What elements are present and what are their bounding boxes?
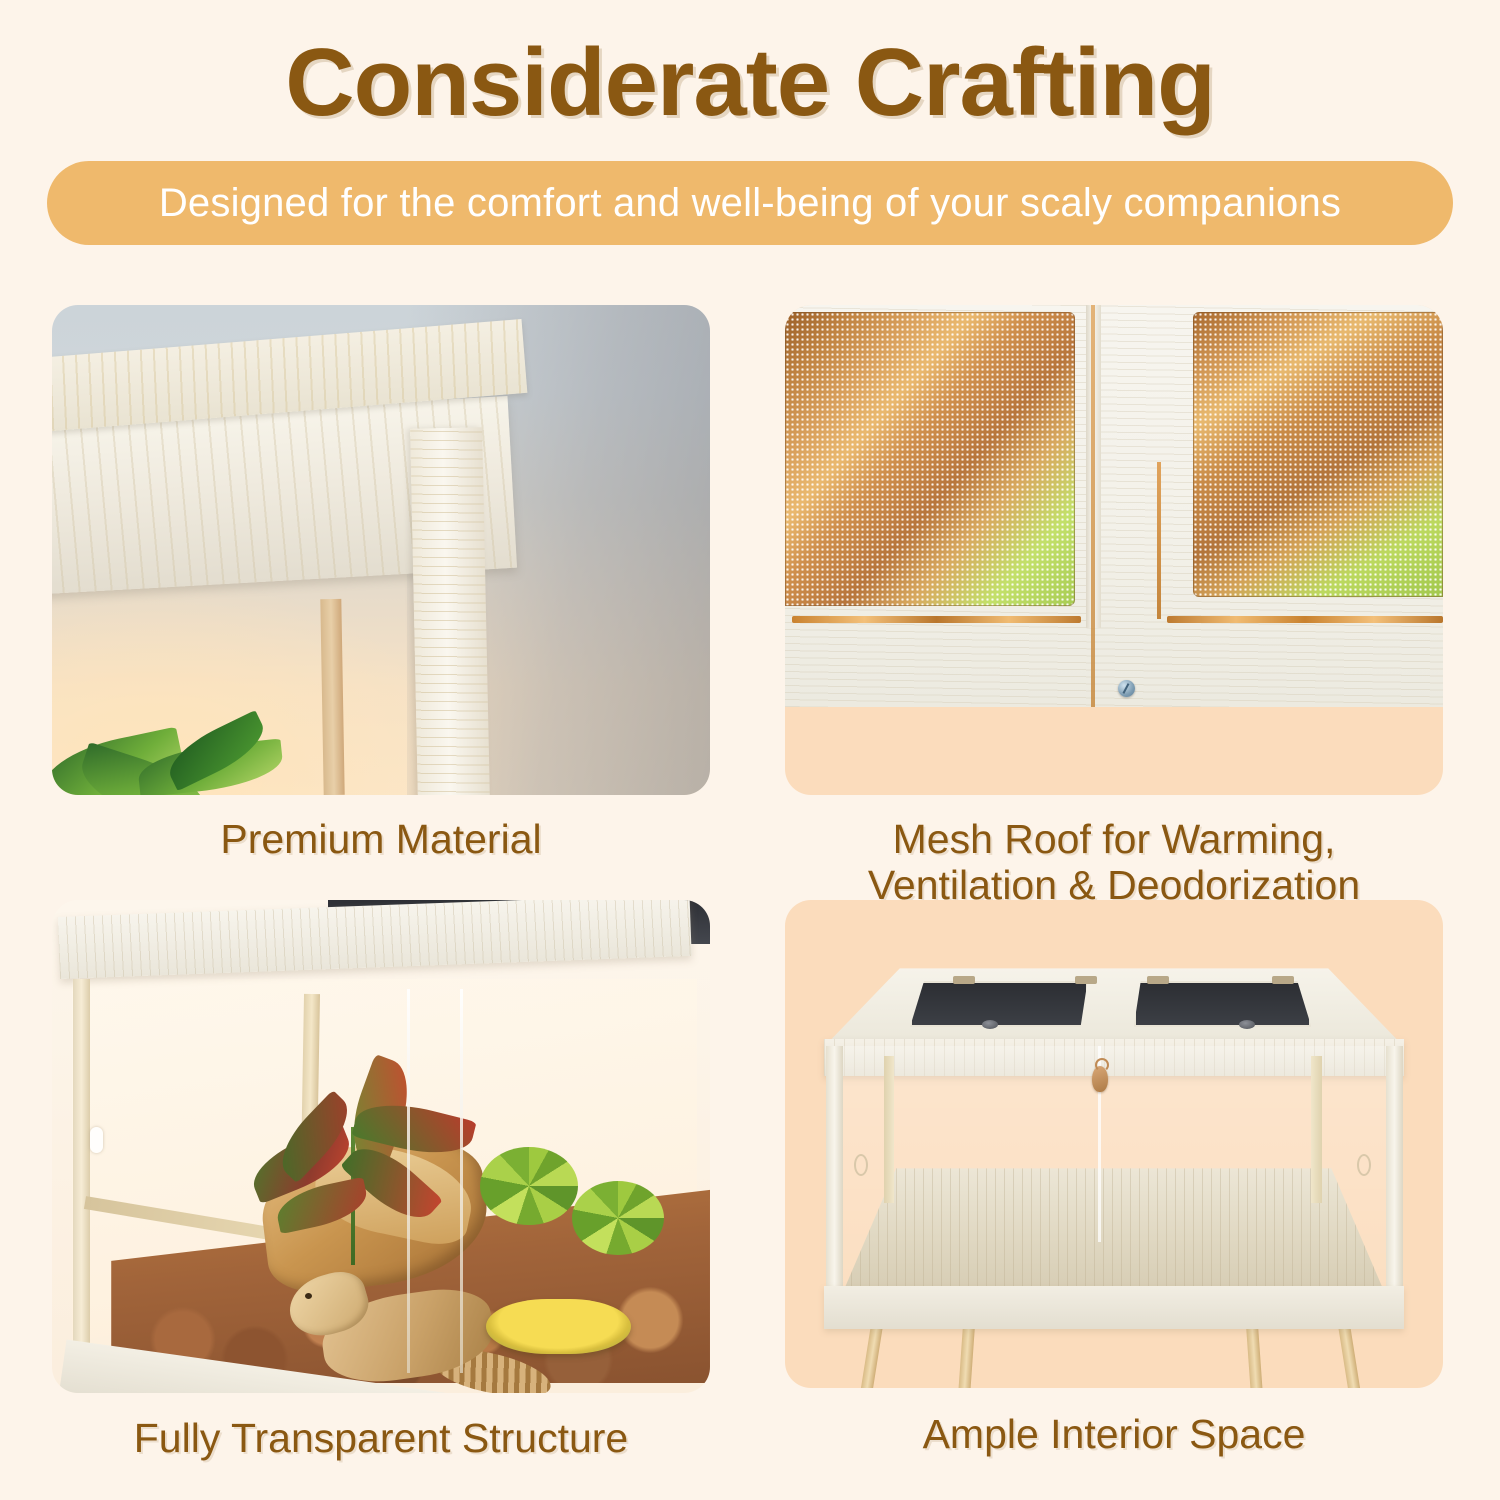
hinge-icon: [1075, 976, 1097, 984]
yellow-feeding-dish: [486, 1299, 631, 1353]
wood-corner-post: [826, 1046, 843, 1300]
mesh-frame-edge-right: [1167, 616, 1443, 623]
wood-inner-post: [884, 1056, 895, 1202]
mesh-frame-edge-left: [792, 616, 1082, 623]
glass-panel-seam: [460, 989, 463, 1374]
caption-mesh-roof: Mesh Roof for Warming, Ventilation & Deo…: [785, 817, 1443, 909]
lock-icon: [1092, 1066, 1108, 1092]
mesh-panel-right: [1193, 312, 1443, 596]
green-succulent: [572, 1181, 664, 1255]
header: Considerate Crafting Designed for the co…: [0, 0, 1500, 245]
wood-bottom-rail: [824, 1286, 1403, 1330]
feature-card-interior-space: Ample Interior Space: [785, 900, 1443, 1500]
hinge-icon: [953, 976, 975, 984]
page-title: Considerate Crafting: [0, 26, 1500, 139]
wood-lid-frame: [824, 968, 1403, 1046]
mesh-panel-left: [785, 312, 1075, 606]
photo-premium-material: [52, 305, 710, 795]
glass-panel-seam: [407, 989, 410, 1374]
mesh-lid-panel-right: [1134, 981, 1312, 1027]
mesh-lid-panel-left: [910, 981, 1088, 1027]
photo-transparent-structure: [52, 900, 710, 1393]
inner-wood-post: [320, 599, 344, 795]
photo-interior-space: [785, 900, 1443, 1388]
feature-card-mesh-roof: Mesh Roof for Warming, Ventilation & Deo…: [785, 305, 1443, 910]
lid-knob-icon: [1239, 1020, 1255, 1029]
mesh-frame-edge-vertical: [1157, 462, 1161, 619]
side-vent-dot: [854, 1154, 868, 1176]
wood-corner-post: [410, 427, 490, 795]
hinge-icon: [1147, 976, 1169, 984]
hinge-icon: [1272, 976, 1294, 984]
feature-card-premium-material: Premium Material: [52, 305, 710, 865]
lid-knob-icon: [982, 1020, 998, 1029]
caption-line-1: Mesh Roof for Warming,: [893, 816, 1336, 862]
glass-door-handle: [90, 1127, 103, 1153]
panel-seam: [1091, 305, 1095, 707]
feature-card-transparent-structure: Fully Transparent Structure: [52, 900, 710, 1500]
caption-premium-material: Premium Material: [52, 817, 710, 863]
wood-left-post: [73, 979, 90, 1354]
green-succulent: [480, 1147, 579, 1226]
subtitle-text: Designed for the comfort and well-being …: [159, 181, 1341, 226]
wood-interior-floor: [842, 1168, 1386, 1295]
caption-interior-space: Ample Interior Space: [785, 1412, 1443, 1458]
feature-grid: Premium Material Mesh Roof for Warming, …: [0, 292, 1500, 1500]
caption-transparent-structure: Fully Transparent Structure: [52, 1416, 710, 1462]
subtitle-banner: Designed for the comfort and well-being …: [47, 161, 1453, 245]
screw-icon: [1118, 680, 1135, 697]
photo-mesh-roof: [785, 305, 1443, 795]
wood-inner-post: [1311, 1056, 1322, 1202]
wood-corner-post: [1386, 1046, 1403, 1300]
